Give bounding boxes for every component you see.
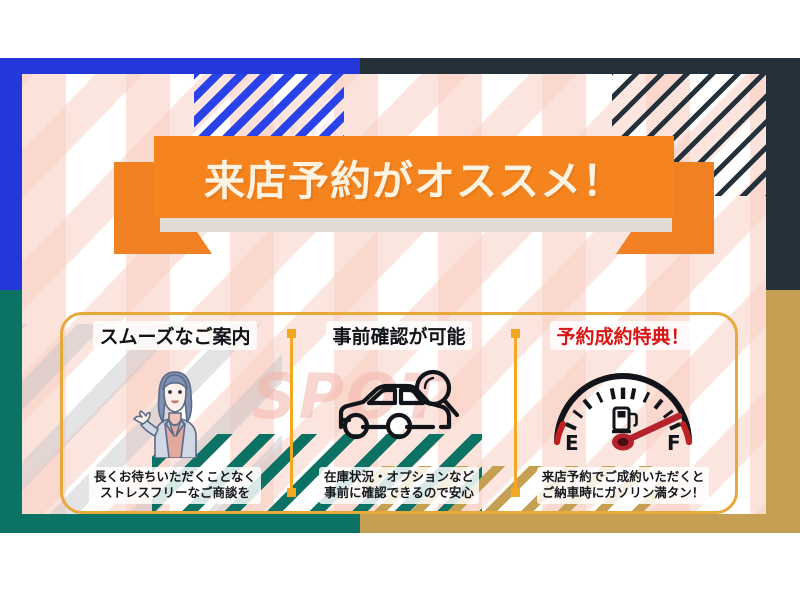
feature-advance-check: 事前確認が可能 [287,315,511,511]
divider-cap-top [287,329,296,338]
divider-bar [514,329,517,497]
gauge-full-label: F [667,431,681,454]
banner-card-inner: online SPOT 来店予約がオススメ！ [22,74,766,514]
feature-description: 長くお待ちいただくことなく ストレスフリーなご商談を [89,467,261,505]
divider-cap-bottom [511,488,520,497]
promo-banner: online SPOT 来店予約がオススメ！ [0,58,800,533]
headline-ribbon: 来店予約がオススメ！ [114,136,714,258]
divider-bar [290,329,293,497]
feature-divider-1 [287,329,296,497]
ribbon-body: 来店予約がオススメ！ [154,136,674,218]
features-grid: スムーズなご案内 [63,315,735,511]
female-staff-illustration-icon [125,358,225,458]
feature-description: 在庫状況・オプションなど 事前に確認できるので安心 [319,467,479,505]
divider-cap-top [511,329,520,338]
car-with-magnifier-icon [329,365,469,451]
feature-divider-2 [511,329,520,497]
fuel-gauge-icon: E F [543,362,703,454]
gauge-empty-label: E [565,431,579,454]
screenshot-stage: online SPOT 来店予約がオススメ！ [0,0,800,600]
feature-title: スムーズなご案内 [93,321,256,350]
feature-title: 予約成約特典！ [550,321,695,350]
divider-cap-bottom [287,488,296,497]
feature-smooth-guidance: スムーズなご案内 [63,315,287,511]
features-panel: スムーズなご案内 [60,312,738,514]
feature-artwork: E F [511,350,735,467]
feature-description: 来店予約でご成約いただくと ご納車時にガソリン満タン！ [537,467,710,505]
feature-artwork [63,350,287,467]
headline-text: 来店予約がオススメ！ [204,147,624,207]
feature-artwork [287,350,511,467]
feature-title: 事前確認が可能 [326,321,471,350]
feature-booking-bonus: 予約成約特典！ [511,315,735,511]
banner-card: online SPOT 来店予約がオススメ！ [22,74,766,514]
